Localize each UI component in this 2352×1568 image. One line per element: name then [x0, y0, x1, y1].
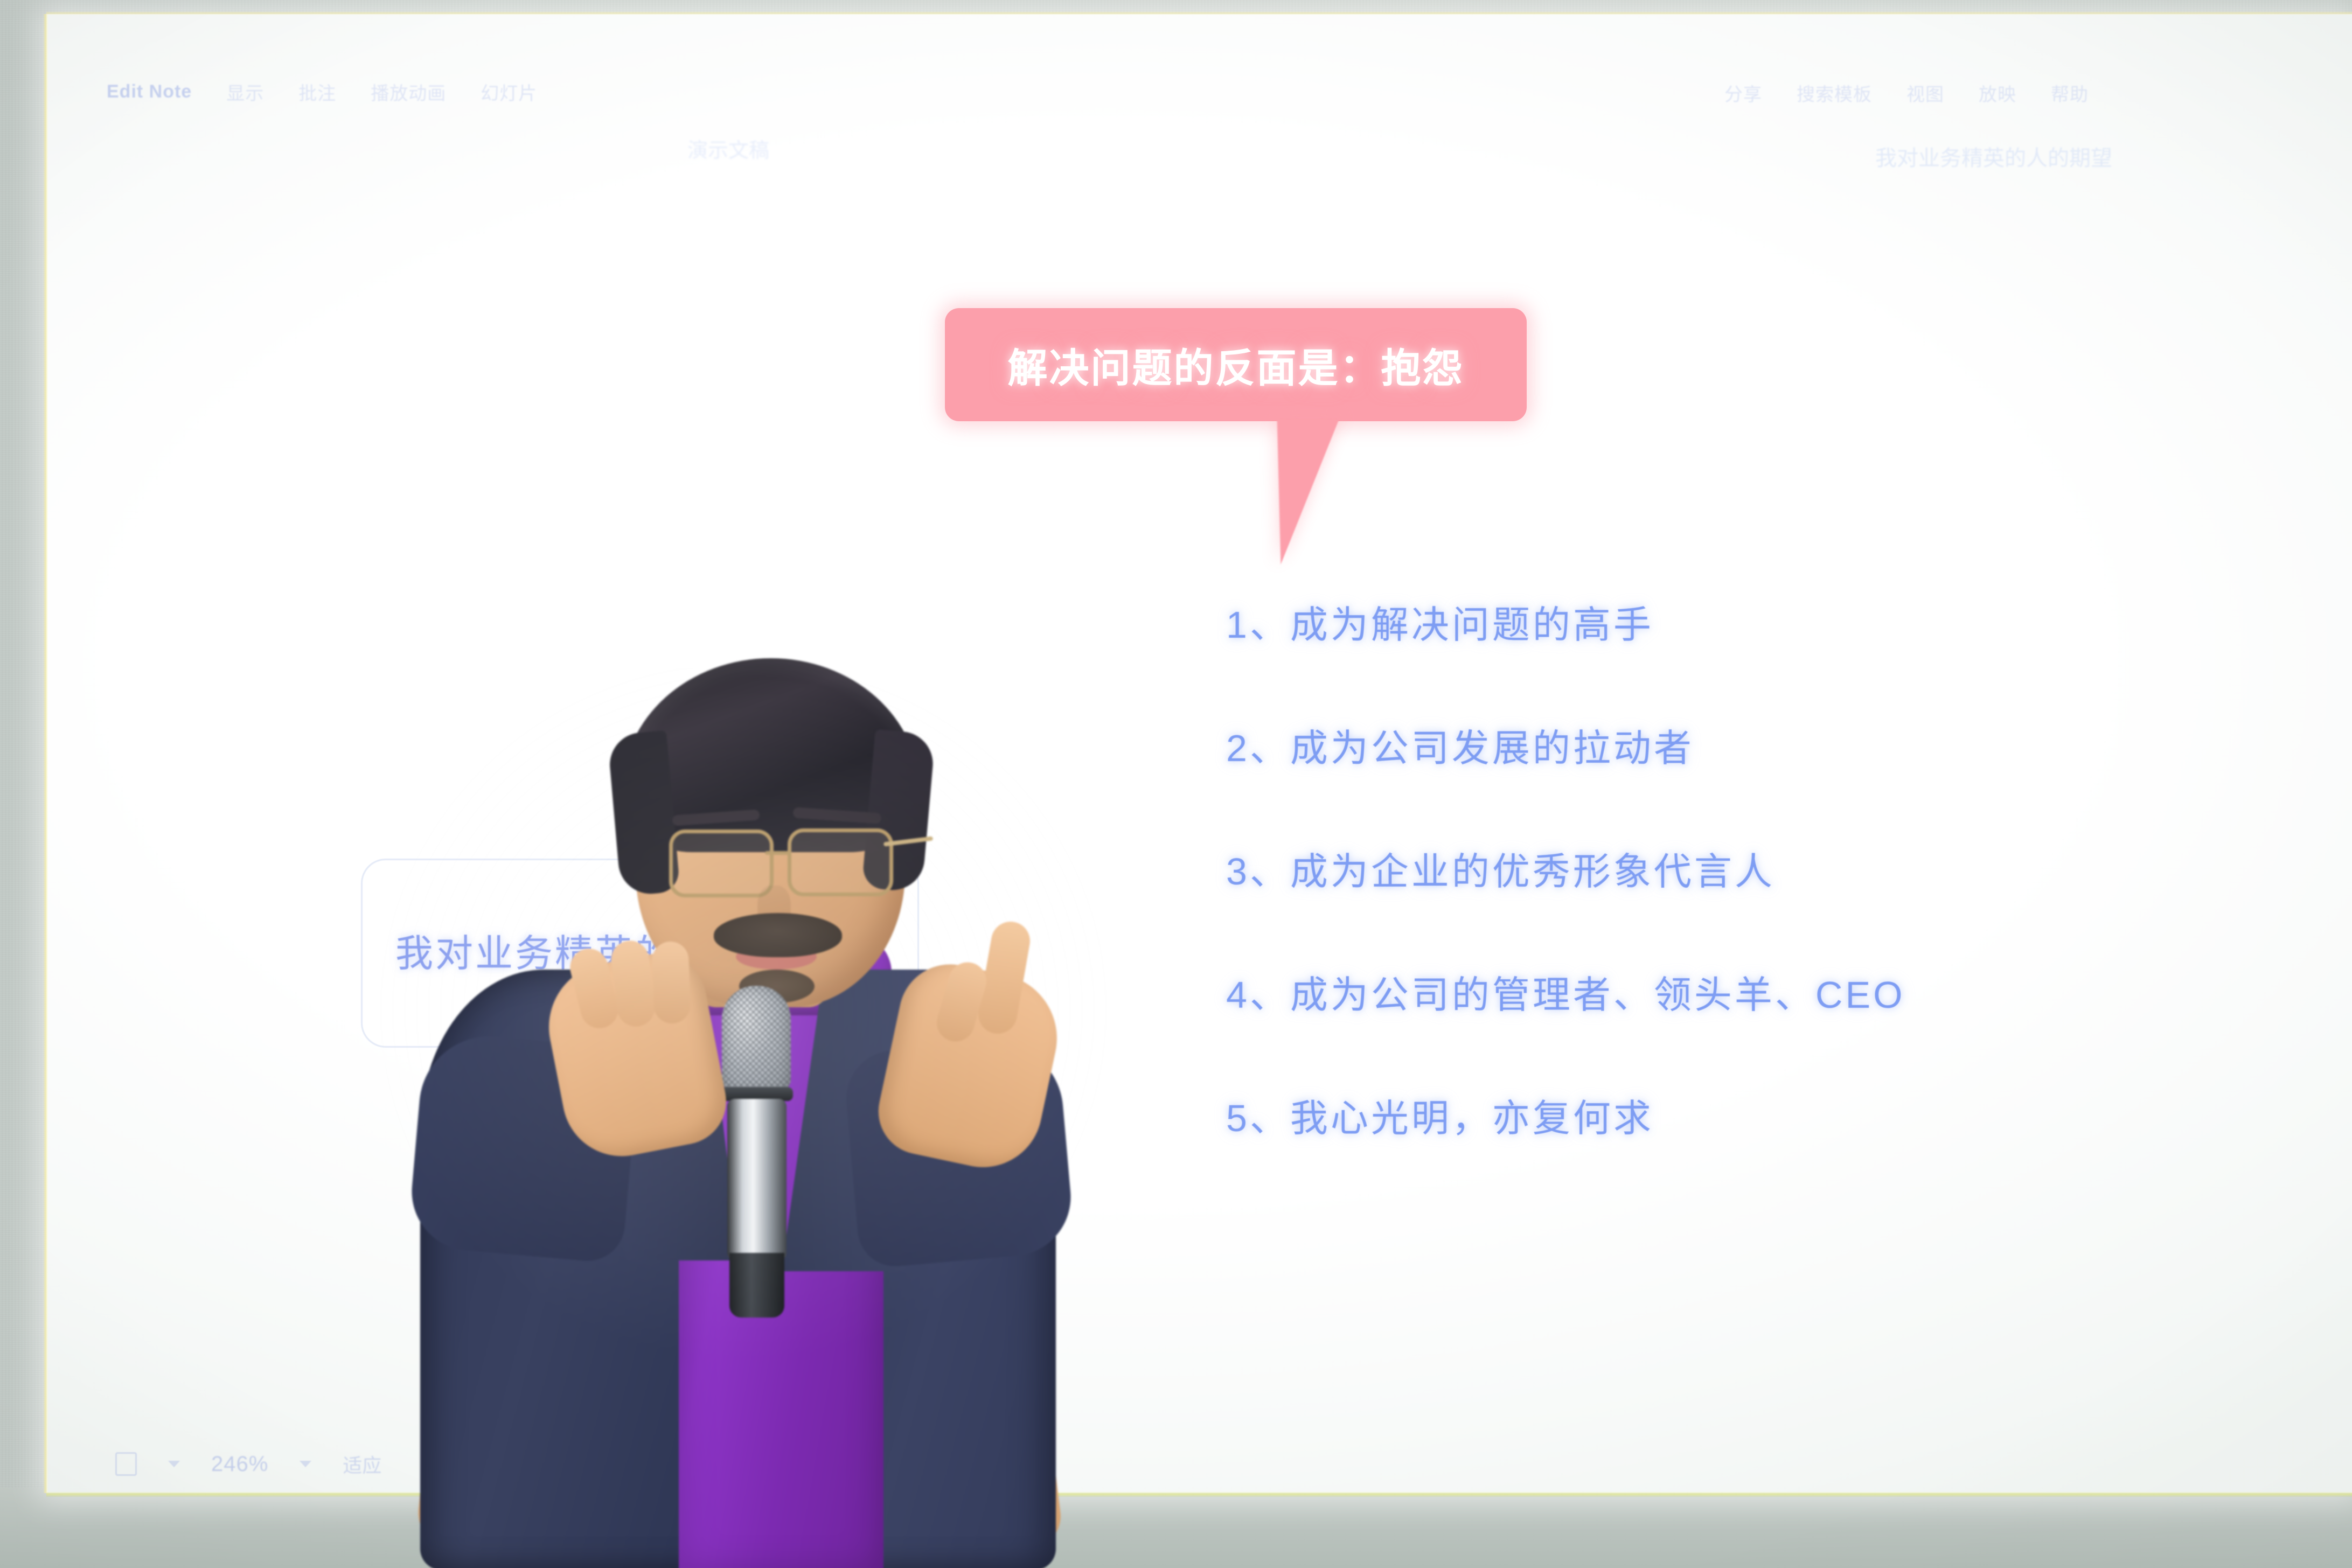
speaker-person: [377, 668, 1110, 1568]
slide-bullet-list: 1、成为解决问题的高手 2、成为公司发展的拉动者 3、成为企业的优秀形象代言人 …: [1226, 595, 2153, 1142]
microphone-mesh: [722, 986, 791, 1091]
projection-edge-fringe-left: [43, 14, 48, 1493]
eyeglasses-bridge: [765, 851, 790, 855]
microphone-tip: [729, 1253, 784, 1318]
speech-bubble: 解决问题的反面是：抱怨: [945, 308, 1527, 421]
wall-lower-band: [0, 1488, 2352, 1568]
eyeglasses-lens-left: [669, 830, 774, 897]
list-item: 2、成为公司发展的拉动者: [1226, 718, 2153, 772]
microphone-body: [727, 1099, 787, 1260]
list-item: 5、我心光明，亦复何求: [1226, 1088, 2153, 1142]
speaker-moustache: [714, 913, 842, 957]
list-item: 3、成为企业的优秀形象代言人: [1226, 841, 2153, 896]
projection-edge-fringe-top: [46, 11, 2352, 15]
speech-bubble-text: 解决问题的反面是：抱怨: [1008, 336, 1464, 394]
list-item: 4、成为公司的管理者、领头羊、CEO: [1226, 965, 2153, 1019]
screenshot-stage: Edit Note 显示 批注 播放动画 幻灯片 分享 搜索模板 视图 放映 帮…: [0, 0, 2352, 1568]
eyeglasses-lens-right: [788, 828, 893, 896]
list-item: 1、成为解决问题的高手: [1226, 595, 2153, 649]
speaker-finger: [651, 941, 691, 1024]
